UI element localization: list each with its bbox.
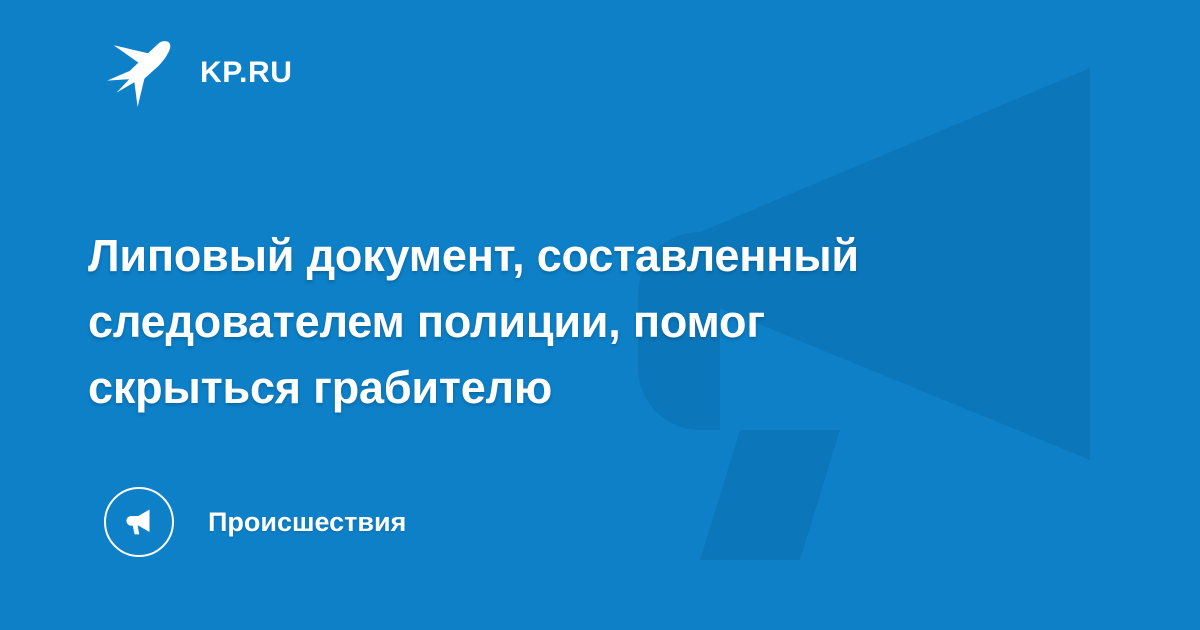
category-badge[interactable] <box>104 487 174 557</box>
page-title-line: следователем полиции, помог <box>88 289 1088 355</box>
swallow-bird-icon <box>104 38 178 108</box>
page-title-line: Липовый документ, составленный <box>88 223 1088 289</box>
page-title: Липовый документ, составленный следовате… <box>88 223 1088 421</box>
megaphone-icon <box>120 503 158 541</box>
category-row[interactable]: Происшествия <box>104 487 406 557</box>
share-card: KP.RU Липовый документ, составленный сле… <box>0 0 1200 630</box>
category-label: Происшествия <box>208 509 406 536</box>
brand-name: KP.RU <box>200 58 292 88</box>
page-title-line: скрыться грабителю <box>88 355 1088 421</box>
brand-logo[interactable]: KP.RU <box>104 38 292 108</box>
